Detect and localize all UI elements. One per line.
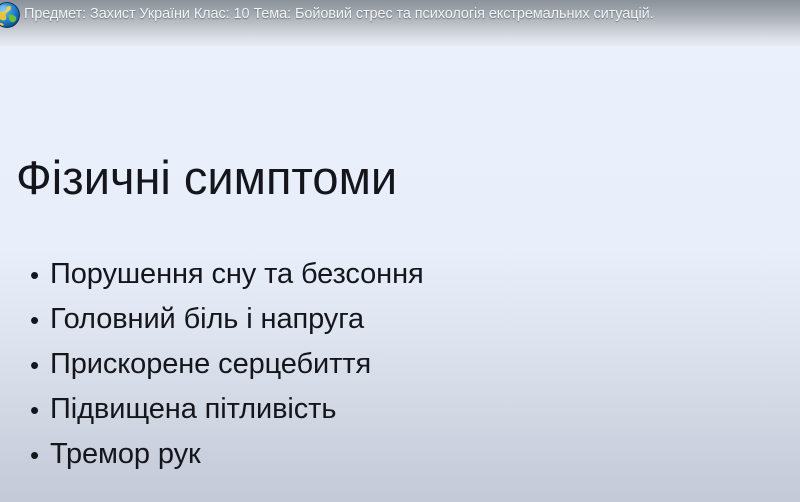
browser-title-bar: Предмет: Захист України Клас: 10 Тема: Б… <box>0 0 800 46</box>
list-item-label: Підвищена пітливість <box>50 391 336 427</box>
list-item-label: Порушення сну та безсоння <box>50 256 424 292</box>
slide-heading: Фізичні симптоми <box>16 150 397 206</box>
bullet-point-icon: • <box>30 437 50 473</box>
list-item: • Порушення сну та безсоння <box>30 256 770 301</box>
list-item: • Прискорене серцебиття <box>30 346 770 391</box>
presentation-screen: Предмет: Захист України Клас: 10 Тема: Б… <box>0 0 800 502</box>
list-item: • Тремор рук <box>30 436 770 481</box>
list-item-label: Прискорене серцебиття <box>50 346 371 382</box>
symptom-list: • Порушення сну та безсоння • Головний б… <box>30 256 770 481</box>
list-item: • Головний біль і напруга <box>30 301 770 346</box>
bullet-point-icon: • <box>30 392 50 428</box>
slide-content: Фізичні симптоми • Порушення сну та безс… <box>0 46 800 502</box>
list-item-label: Головний біль і напруга <box>50 301 364 337</box>
bullet-point-icon: • <box>30 347 50 383</box>
globe-icon <box>0 2 20 28</box>
bullet-point-icon: • <box>30 257 50 293</box>
bullet-point-icon: • <box>30 302 50 338</box>
list-item-label: Тремор рук <box>50 436 201 472</box>
list-item: • Підвищена пітливість <box>30 391 770 436</box>
window-title: Предмет: Захист України Клас: 10 Тема: Б… <box>24 5 794 23</box>
